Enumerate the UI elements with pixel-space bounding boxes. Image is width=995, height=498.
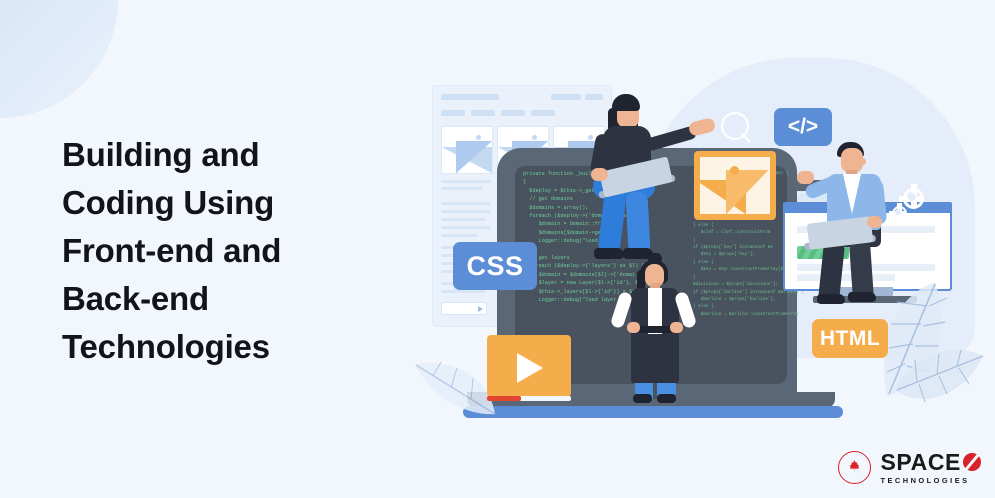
- title-line-1: Building and: [62, 136, 259, 173]
- corner-decoration-circle: [0, 0, 118, 118]
- title-line-2: Coding Using: [62, 184, 274, 221]
- wireframe-image-card: [441, 126, 493, 174]
- logo-tagline: TECHNOLOGIES: [880, 477, 981, 484]
- title-line-3-rest: and: [214, 232, 281, 269]
- leaf-icon: [411, 356, 499, 422]
- banner: Building and Coding Using Front-end and …: [0, 0, 995, 498]
- badge-css: CSS: [453, 242, 537, 290]
- hero-illustration: private function _build() { $deploy = $t…: [405, 20, 985, 440]
- brand-logo[interactable]: SPACE TECHNOLOGIES: [838, 451, 981, 484]
- badge-html: HTML: [812, 319, 888, 358]
- title-highlight-backend: Back-end: [62, 275, 209, 323]
- maple-leaf-icon: [838, 451, 871, 484]
- image-placeholder-icon: [694, 151, 776, 220]
- page-title: Building and Coding Using Front-end and …: [62, 131, 392, 371]
- title-highlight-frontend: Front-end: [62, 227, 214, 275]
- title-line-5: Technologies: [62, 328, 270, 365]
- search-icon: [721, 112, 755, 146]
- logo-brand-text: SPACE: [880, 451, 961, 474]
- logo-slashed-o-icon: [963, 453, 981, 471]
- play-button-icon: [487, 335, 571, 397]
- video-progress-bar: [487, 396, 571, 401]
- leaf-icon: [891, 340, 987, 418]
- laptop-base-shadow: [463, 406, 843, 418]
- badge-code-brackets: </>: [774, 108, 832, 146]
- wireframe-play-button: [441, 302, 487, 315]
